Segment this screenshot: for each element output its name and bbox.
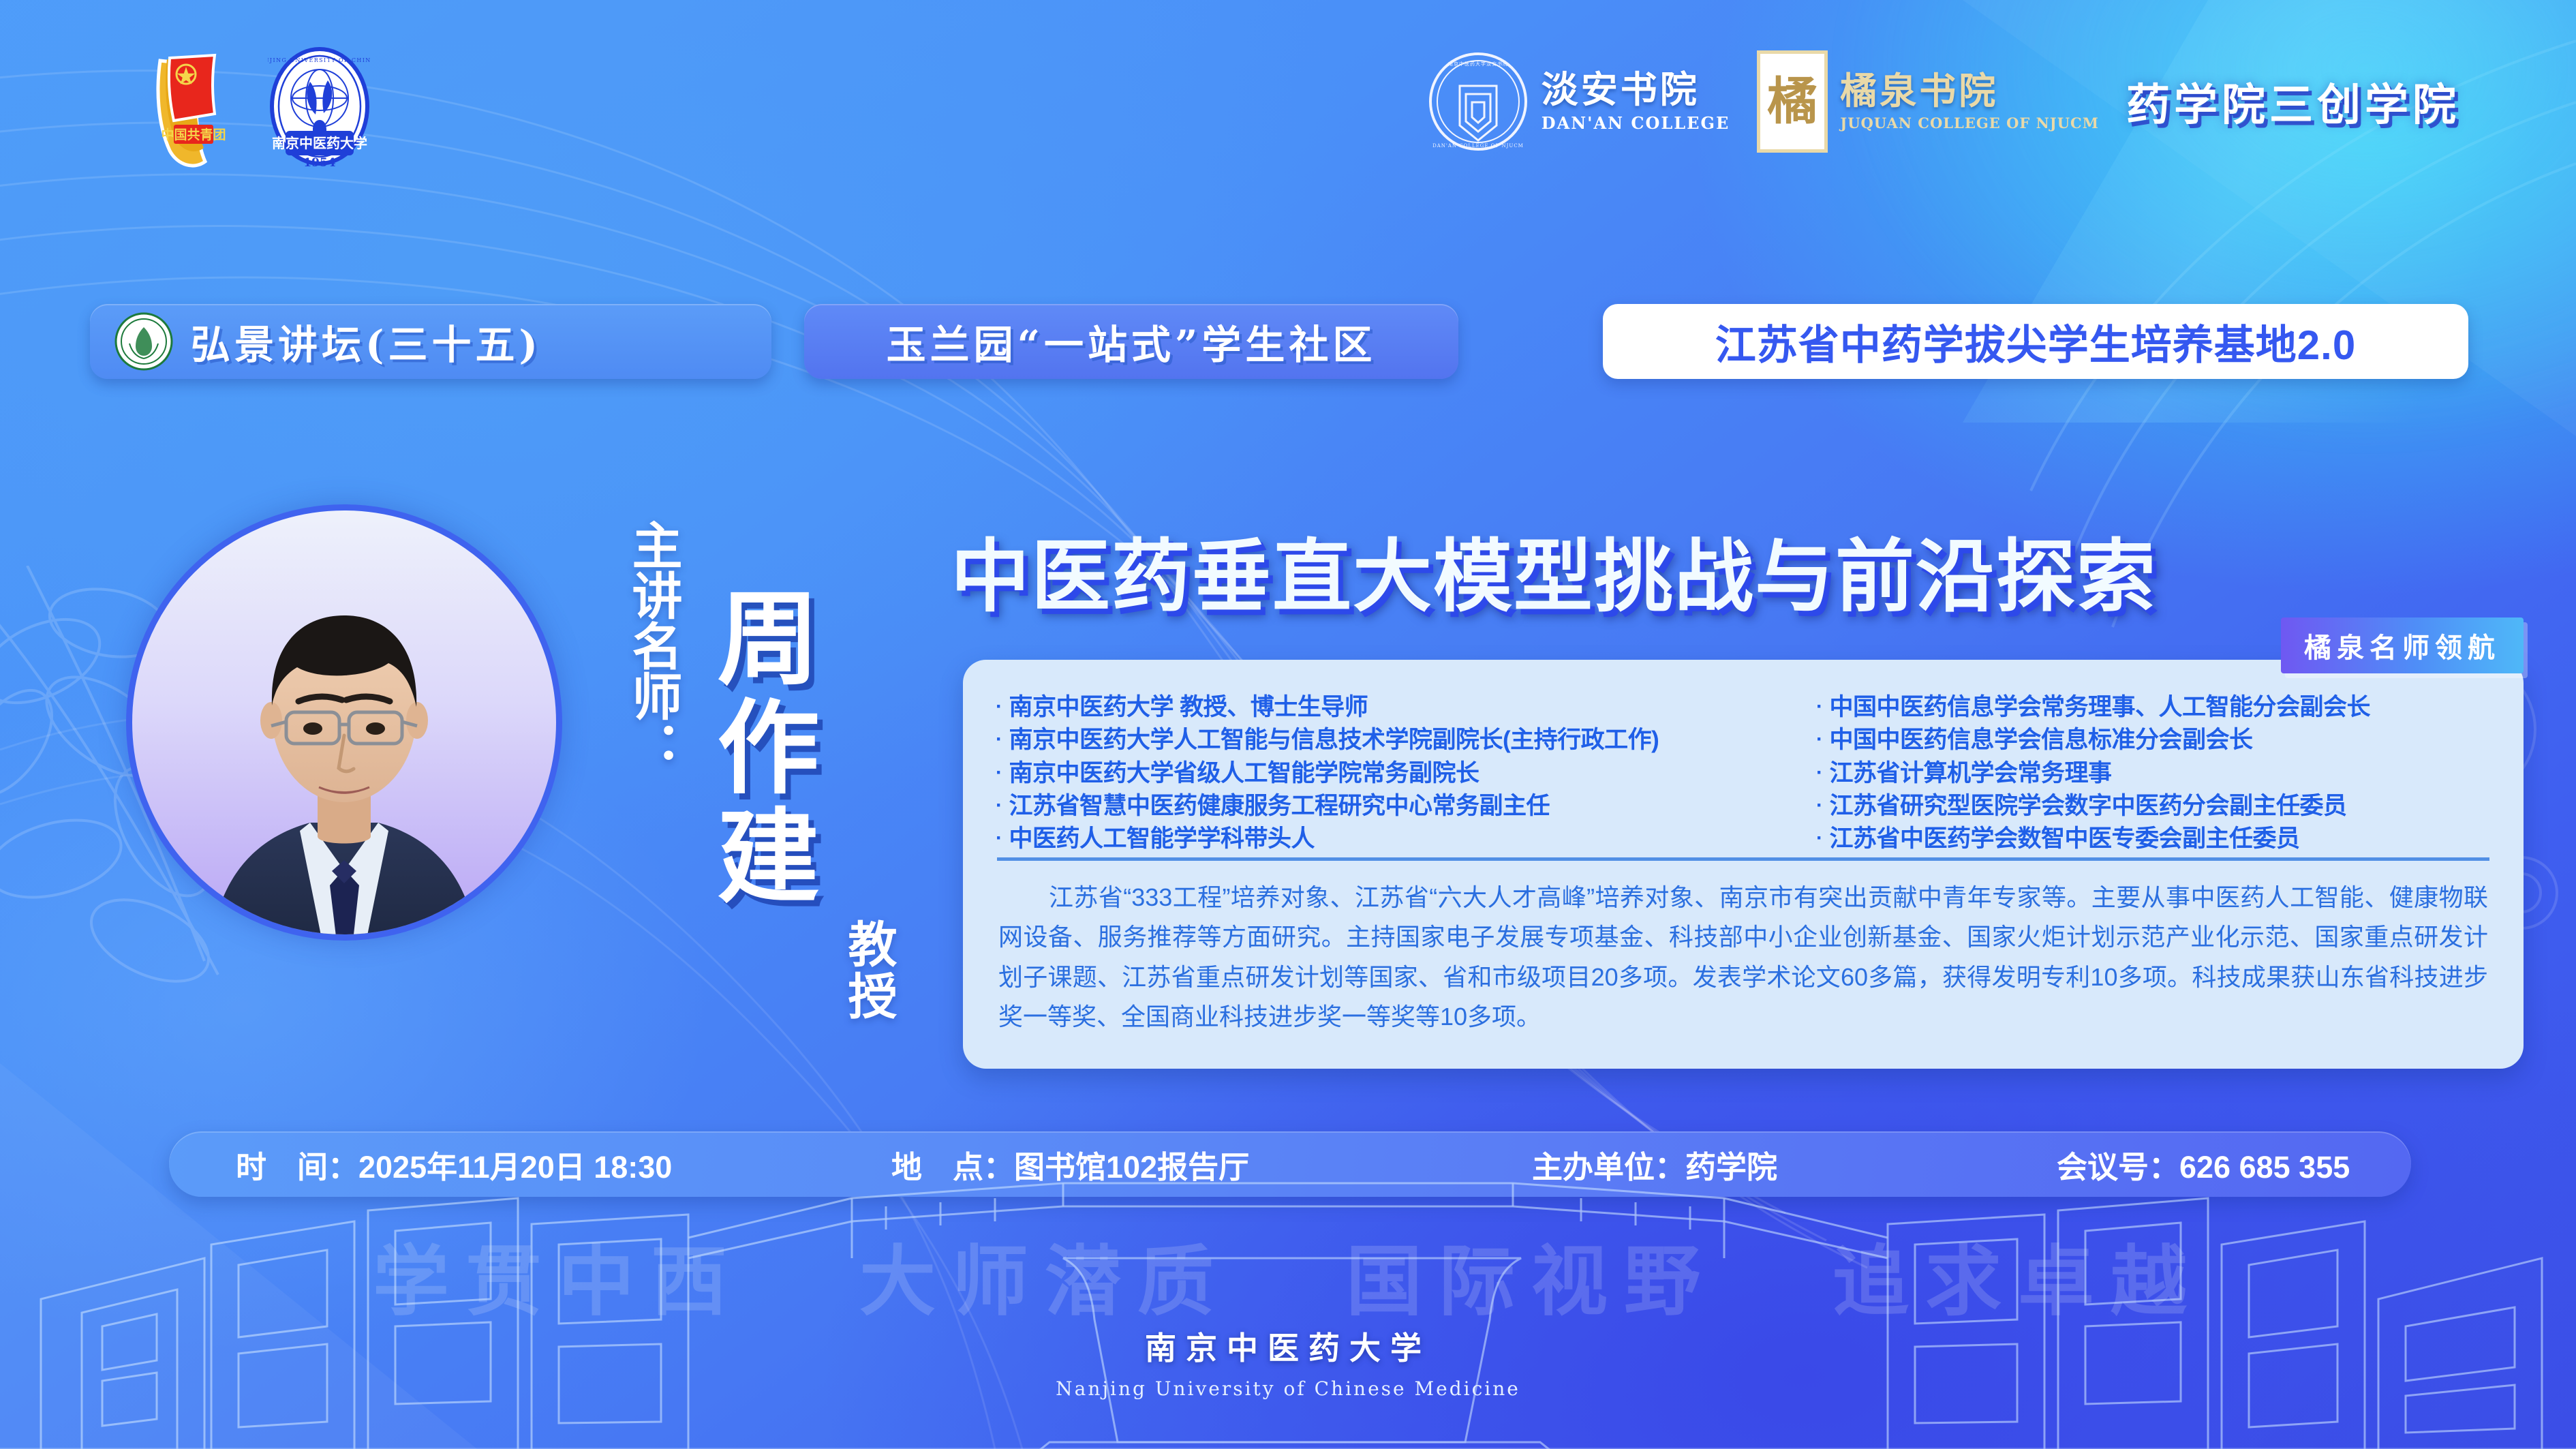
bullet-dot-icon: · — [1816, 757, 1823, 789]
list-item: ·江苏省智慧中医药健康服务工程研究中心常务副主任 — [996, 790, 1793, 823]
juquan-seal-char: 橘 — [1767, 76, 1818, 127]
njucm-university-seal: 南京中医药大学 1954 NANJING UNIVERSITY OF CHINE… — [268, 46, 371, 173]
header-right-logos: 南京中医药大学淡安书院 DAN'AN COLLEGE OF NJUCM 淡安书院… — [1427, 50, 2460, 153]
card-divider — [997, 857, 2489, 861]
bullet-dot-icon: · — [996, 823, 1002, 855]
event-time: 时 间：2025年11月20日 18:30 — [236, 1142, 672, 1187]
juquan-college-en: JUQUAN COLLEGE OF NJUCM — [1840, 115, 2099, 132]
juquan-mentor-tag: 橘泉名师领航 — [2281, 617, 2524, 673]
yulan-community-badge[interactable]: 玉兰园“一站式”学生社区 — [804, 304, 1458, 379]
lecture-poster: 中国共青团 南京中医药大学 1954 NANJING UN — [0, 0, 2576, 1449]
list-item: ·中医药人工智能学学科带头人 — [996, 823, 1793, 855]
danan-college-logo: 南京中医药大学淡安书院 DAN'AN COLLEGE OF NJUCM 淡安书院… — [1427, 50, 1730, 153]
list-item: ·南京中医药大学人工智能与信息技术学院副院长(主持行政工作) — [996, 724, 1793, 757]
juquan-seal-icon: 橘 — [1757, 50, 1828, 153]
bullet-dot-icon: · — [996, 757, 1002, 789]
hongjing-forum-badge[interactable]: 弘景讲坛(三十五) — [90, 304, 771, 379]
credential-text: 江苏省智慧中医药健康服务工程研究中心常务副主任 — [1009, 790, 1550, 823]
yulan-community-badge-label: 玉兰园“一站式”学生社区 — [887, 313, 1377, 370]
list-item: ·江苏省计算机学会常务理事 — [1816, 757, 2496, 790]
header-left-logos: 中国共青团 南京中医药大学 1954 NANJING UN — [147, 46, 371, 173]
header-logo-bar: 中国共青团 南京中医药大学 1954 NANJING UN — [0, 41, 2576, 184]
event-meeting-id: 会议号：626 685 355 — [2057, 1142, 2350, 1187]
speaker-name: 周作建 — [695, 585, 818, 912]
svg-text:中国共青团: 中国共青团 — [161, 127, 226, 142]
university-name-en: Nanjing University of Chinese Medicine — [1056, 1377, 1520, 1400]
svg-text:NANJING UNIVERSITY OF CHINESE: NANJING UNIVERSITY OF CHINESE — [268, 57, 371, 63]
juquan-college-text: 橘泉书院 JUQUAN COLLEGE OF NJUCM — [1840, 72, 2099, 132]
bullet-dot-icon: · — [996, 724, 1002, 756]
bullet-dot-icon: · — [996, 691, 1002, 723]
bullet-dot-icon: · — [1816, 790, 1823, 822]
portrait-ring — [126, 504, 562, 941]
juquan-college-cn: 橘泉书院 — [1840, 72, 2099, 110]
danan-college-en: DAN'AN COLLEGE — [1542, 113, 1730, 133]
bullet-dot-icon: · — [1816, 724, 1823, 756]
credential-text: 江苏省计算机学会常务理事 — [1830, 757, 2112, 790]
credential-text: 江苏省研究型医院学会数字中医药分会副主任委员 — [1830, 790, 2347, 823]
credential-text: 江苏省中医药学会数智中医专委会副主任委员 — [1830, 823, 2300, 855]
bullet-dot-icon: · — [996, 790, 1002, 822]
communist-youth-league-emblem: 中国共青团 — [147, 48, 228, 171]
list-item: ·中国中医药信息学会常务理事、人工智能分会副会长 — [1816, 691, 2496, 724]
event-info-bar: 时 间：2025年11月20日 18:30 地 点：图书馆102报告厅 主办单位… — [169, 1131, 2411, 1197]
danan-college-cn: 淡安书院 — [1542, 70, 1730, 109]
slogan-3: 国际视野 — [1346, 1220, 1717, 1330]
svg-text:南京中医药大学淡安书院: 南京中医药大学淡安书院 — [1448, 61, 1508, 67]
event-host: 主办单位：药学院 — [1532, 1142, 1777, 1187]
speaker-info-card: 橘泉名师领航 ·南京中医药大学 教授、博士生导师 ·南京中医药大学人工智能与信息… — [963, 660, 2524, 1069]
bullet-dot-icon: · — [1816, 691, 1823, 723]
list-item: ·中国中医药信息学会信息标准分会副会长 — [1816, 724, 2496, 757]
svg-text:1954: 1954 — [303, 156, 335, 170]
svg-text:DAN'AN COLLEGE OF NJUCM: DAN'AN COLLEGE OF NJUCM — [1432, 143, 1524, 149]
svg-text:南京中医药大学: 南京中医药大学 — [272, 135, 367, 151]
credential-text: 中国中医药信息学会常务理事、人工智能分会副会长 — [1830, 691, 2371, 724]
jiangsu-base-badge-label: 江苏省中药学拔尖学生培养基地2.0 — [1715, 312, 2356, 371]
speaker-prefix-label: 主讲名师： — [607, 519, 681, 772]
bullet-dot-icon: · — [1816, 823, 1823, 855]
slogan-2: 大师潜质 — [859, 1220, 1230, 1330]
credentials-columns: ·南京中医药大学 教授、博士生导师 ·南京中医药大学人工智能与信息技术学院副院长… — [996, 691, 2496, 855]
slogan-4: 追求卓越 — [1833, 1220, 2203, 1330]
hongjing-seal-icon — [114, 312, 173, 371]
university-name-cn: 南京中医药大学 — [1145, 1324, 1431, 1369]
speaker-title: 教授 — [833, 919, 895, 1022]
speaker-portrait — [126, 504, 562, 1050]
credential-text: 南京中医药大学省级人工智能学院常务副院长 — [1009, 757, 1479, 790]
danan-college-seal-icon: 南京中医药大学淡安书院 DAN'AN COLLEGE OF NJUCM — [1427, 50, 1529, 153]
speaker-photo — [184, 550, 504, 941]
badge-row: 弘景讲坛(三十五) 玉兰园“一站式”学生社区 江苏省中药学拔尖学生培养基地2.0 — [0, 304, 2576, 386]
credential-text: 中国中医药信息学会信息标准分会副会长 — [1830, 724, 2253, 757]
pharmacy-sanchuang-logo: 药学院三创学院 — [2126, 70, 2460, 133]
credentials-right-column: ·中国中医药信息学会常务理事、人工智能分会副会长 ·中国中医药信息学会信息标准分… — [1816, 691, 2496, 855]
credential-text: 南京中医药大学人工智能与信息技术学院副院长(主持行政工作) — [1009, 724, 1659, 757]
list-item: ·南京中医药大学 教授、博士生导师 — [996, 691, 1793, 724]
jiangsu-base-badge[interactable]: 江苏省中药学拔尖学生培养基地2.0 — [1603, 304, 2468, 379]
danan-college-text: 淡安书院 DAN'AN COLLEGE — [1542, 70, 1730, 133]
juquan-college-logo: 橘 橘泉书院 JUQUAN COLLEGE OF NJUCM — [1757, 50, 2099, 153]
event-place: 地 点：图书馆102报告厅 — [891, 1142, 1249, 1187]
lecture-title: 中医药垂直大模型挑战与前沿探索 — [951, 513, 2539, 627]
credentials-left-column: ·南京中医药大学 教授、博士生导师 ·南京中医药大学人工智能与信息技术学院副院长… — [996, 691, 1793, 855]
hongjing-forum-badge-label: 弘景讲坛(三十五) — [191, 313, 542, 370]
list-item: ·江苏省研究型医院学会数字中医药分会副主任委员 — [1816, 790, 2496, 823]
credential-text: 中医药人工智能学学科带头人 — [1009, 823, 1315, 855]
speaker-biography: 江苏省“333工程”培养对象、江苏省“六大人才高峰”培养对象、南京市有突出贡献中… — [998, 878, 2488, 1037]
list-item: ·南京中医药大学省级人工智能学院常务副院长 — [996, 757, 1793, 790]
list-item: ·江苏省中医药学会数智中医专委会副主任委员 — [1816, 823, 2496, 855]
credential-text: 南京中医药大学 教授、博士生导师 — [1009, 691, 1368, 724]
